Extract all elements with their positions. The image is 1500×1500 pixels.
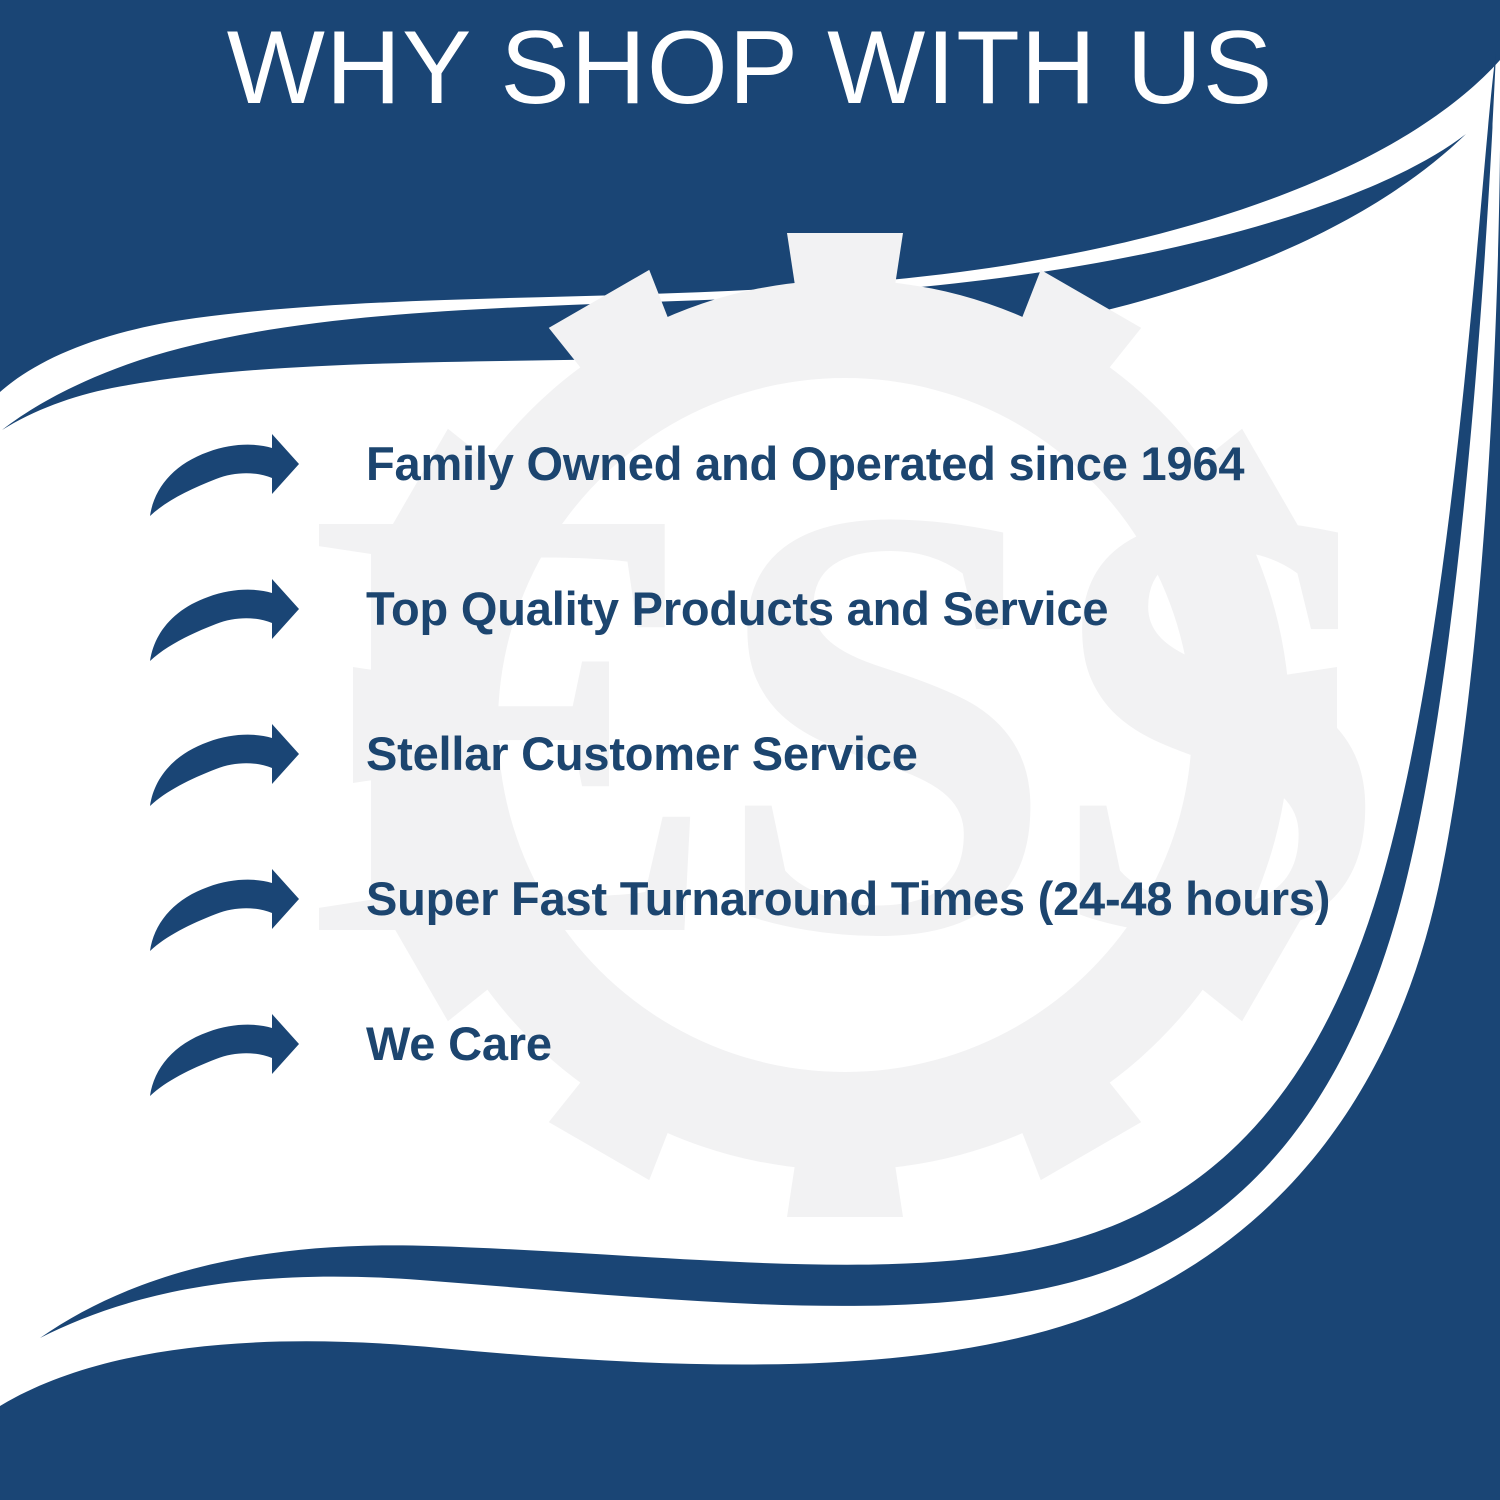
list-item-label: Family Owned and Operated since 1964 — [366, 438, 1448, 491]
list-item-label: Top Quality Products and Service — [366, 583, 1448, 636]
list-item-label: Super Fast Turnaround Times (24-48 hours… — [366, 873, 1448, 926]
list-item: Stellar Customer Service — [148, 722, 1448, 867]
list-item: Top Quality Products and Service — [148, 577, 1448, 722]
promo-banner: ESS — [0, 0, 1500, 1500]
list-item: We Care — [148, 1012, 1448, 1157]
curved-arrow-right-icon — [148, 1014, 300, 1102]
curved-arrow-right-icon — [148, 724, 300, 812]
benefits-list: Family Owned and Operated since 1964 Top… — [148, 432, 1448, 1157]
curved-arrow-right-icon — [148, 869, 300, 957]
page-title: WHY SHOP WITH US — [0, 16, 1500, 120]
list-item-label: Stellar Customer Service — [366, 728, 1448, 781]
list-item-label: We Care — [366, 1018, 1448, 1071]
list-item: Super Fast Turnaround Times (24-48 hours… — [148, 867, 1448, 1012]
curved-arrow-right-icon — [148, 579, 300, 667]
list-item: Family Owned and Operated since 1964 — [148, 432, 1448, 577]
curved-arrow-right-icon — [148, 434, 300, 522]
